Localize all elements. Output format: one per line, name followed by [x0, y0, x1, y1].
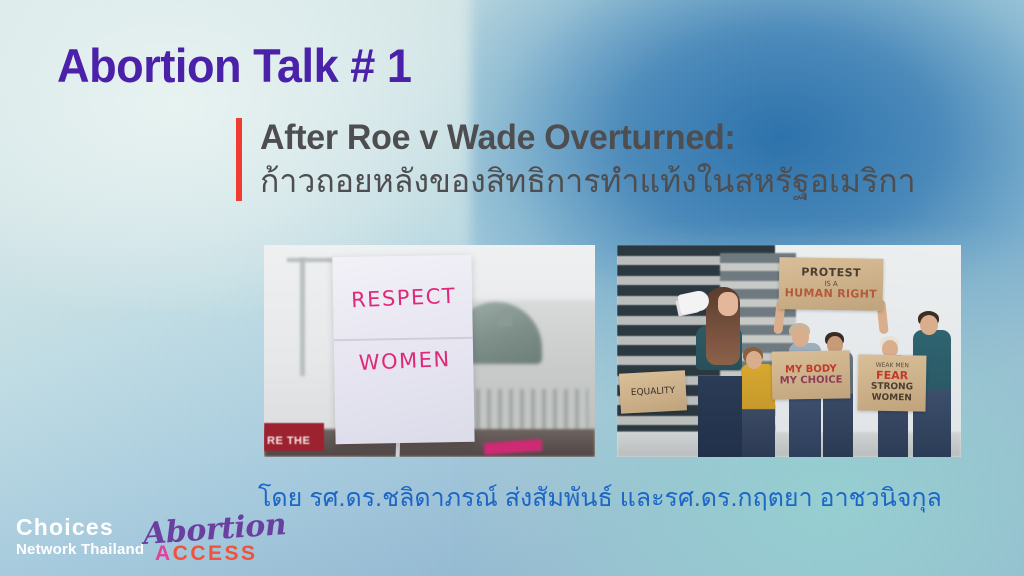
mybody-sign-line-2: MY CHOICE: [779, 374, 842, 387]
subtitle-block: After Roe v Wade Overturned: ก้าวถอยหลัง…: [236, 118, 916, 201]
logo-access-word: ACCESS: [155, 542, 258, 566]
placard-text-line-2: WOMEN: [342, 346, 468, 375]
speaker-face: [718, 292, 738, 316]
photo-protest-crowd: EQUALITY PROTEST IS A HUMAN RIGHT MY BOD…: [617, 245, 961, 457]
logo-choices-network-thailand: Choices Network Thailand: [16, 516, 144, 557]
subtitle-english: After Roe v Wade Overturned:: [260, 118, 896, 157]
photo-row: RE THE RESPECT WOMEN: [264, 245, 961, 457]
background-red-sign-text: RE THE: [267, 435, 310, 447]
protest-human-right-sign: PROTEST IS A HUMAN RIGHT: [778, 257, 883, 311]
protester-head: [920, 315, 938, 335]
crane-arm: [287, 258, 333, 262]
dome-finial: [498, 310, 512, 326]
red-accent-rule: [236, 118, 242, 201]
speaker-credit-line: โดย รศ.ดร.ชลิดาภรณ์ ส่งสัมพันธ์ และรศ.ดร…: [258, 478, 942, 518]
placard-text-line-1: RESPECT: [340, 283, 466, 312]
presentation-slide: Abortion Talk # 1 After Roe v Wade Overt…: [0, 0, 1024, 576]
subtitle-texts: After Roe v Wade Overturned: ก้าวถอยหลัง…: [260, 118, 916, 201]
speaker-jeans: [698, 376, 742, 457]
weakmen-sign-line-2: FEAR: [876, 370, 908, 383]
weakmen-sign-line-4: WOMEN: [871, 393, 911, 404]
photo-respect-women: RE THE RESPECT WOMEN: [264, 245, 595, 457]
equality-sign: EQUALITY: [619, 370, 687, 413]
mybody-sign-line-1: MY BODY: [785, 363, 837, 375]
equality-sign-line-1: EQUALITY: [631, 386, 676, 399]
page-title: Abortion Talk # 1: [57, 38, 412, 93]
logo-access-first-letter: A: [155, 542, 173, 565]
logo-choices-main-text: Choices: [16, 516, 144, 539]
logo-abortion-access: Abortion ACCESS: [143, 512, 259, 570]
protest-sign-line-3: HUMAN RIGHT: [784, 287, 876, 301]
protest-sign-line-1: PROTEST: [801, 267, 861, 281]
crane-mast: [300, 258, 305, 377]
background-red-sign: RE THE: [264, 423, 324, 451]
protest-placard: RESPECT WOMEN: [332, 254, 474, 443]
logo-access-rest: CCESS: [173, 542, 258, 565]
weak-men-fear-strong-women-sign: WEAK MEN FEAR STRONG WOMEN: [857, 355, 926, 412]
logo-choices-sub-text: Network Thailand: [16, 542, 144, 557]
protester-head: [746, 351, 762, 369]
protester-body: [741, 364, 775, 457]
subtitle-thai: ก้าวถอยหลังของสิทธิการทำแท้งในสหรัฐอเมริ…: [260, 161, 916, 201]
my-body-my-choice-sign: MY BODY MY CHOICE: [771, 350, 850, 399]
